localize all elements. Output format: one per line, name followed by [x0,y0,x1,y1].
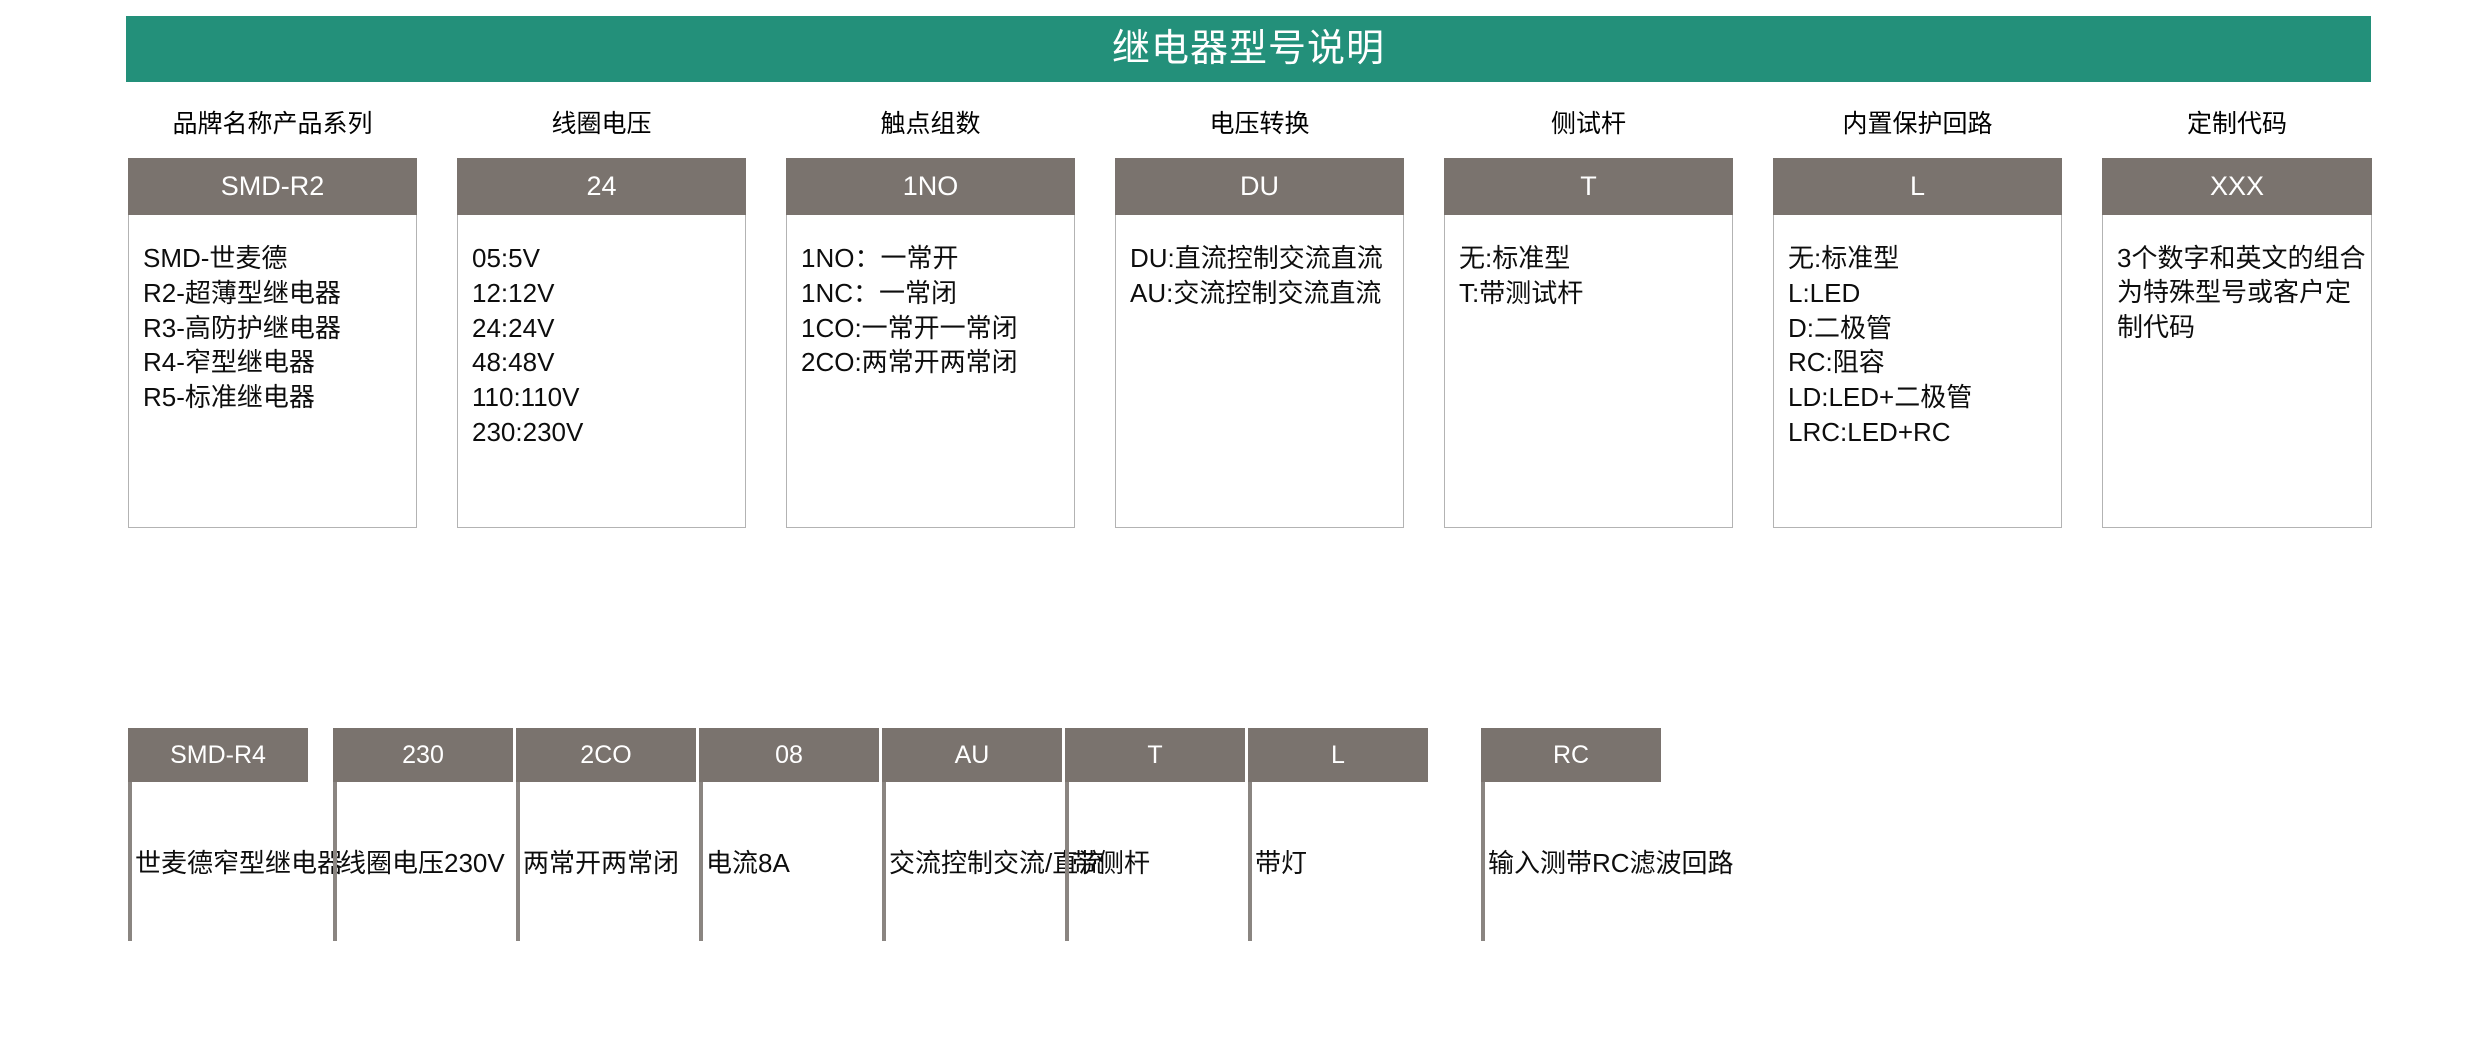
legend-column-box: DUDU:直流控制交流直流AU:交流控制交流直流 [1115,158,1404,528]
example-segment-code: AU [882,728,1062,782]
example-segment-stem: 输入测带RC滤波回路 [1481,782,1661,941]
legend-column-options: 无:标准型T:带测试杆 [1445,215,1732,311]
legend-option: 1NO：一常开 [801,241,1074,276]
model-code-legend: 品牌名称产品系列SMD-R2SMD-世麦德R2-超薄型继电器R3-高防护继电器R… [128,112,2372,542]
legend-column-options: 05:5V12:12V24:24V48:48V110:110V230:230V [458,215,745,450]
legend-option: D:二极管 [1788,311,2061,346]
page-title: 继电器型号说明 [126,30,2371,68]
example-segment-description: 线圈电压230V [340,848,505,879]
example-segment-code: 08 [699,728,879,782]
example-segment-stem: 世麦德窄型继电器 [128,782,308,941]
legend-column: 触点组数1NO1NO：一常开1NC：一常闭1CO:一常开一常闭2CO:两常开两常… [786,112,1075,528]
legend-column: 侧试杆T无:标准型T:带测试杆 [1444,112,1733,528]
page-title-banner: 继电器型号说明 [126,16,2371,82]
example-segment-code: L [1248,728,1428,782]
legend-option: 3个数字和英文的组合为特殊型号或客户定制代码 [2117,241,2371,344]
example-segment: RC输入测带RC滤波回路 [1481,728,1661,941]
example-segment-code: SMD-R4 [128,728,308,782]
legend-option: AU:交流控制交流直流 [1130,276,1403,311]
example-segment-description: 世麦德窄型继电器 [135,848,343,879]
legend-option: 12:12V [472,276,745,311]
example-segment-description: 两常开两常闭 [523,848,679,879]
legend-option: 2CO:两常开两常闭 [801,345,1074,380]
legend-column-caption: 内置保护回路 [1773,112,2062,144]
legend-option: R2-超薄型继电器 [143,276,416,311]
example-segment-description: 带侧杆 [1072,848,1150,879]
legend-column: 品牌名称产品系列SMD-R2SMD-世麦德R2-超薄型继电器R3-高防护继电器R… [128,112,417,528]
example-segment-code: 2CO [516,728,696,782]
example-segment: 230线圈电压230V [333,728,513,941]
legend-column: 线圈电压2405:5V12:12V24:24V48:48V110:110V230… [457,112,746,528]
legend-option: 1NC：一常闭 [801,276,1074,311]
example-segment-description: 带灯 [1255,848,1307,879]
legend-column-box: 1NO1NO：一常开1NC：一常闭1CO:一常开一常闭2CO:两常开两常闭 [786,158,1075,528]
legend-column-box: SMD-R2SMD-世麦德R2-超薄型继电器R3-高防护继电器R4-窄型继电器R… [128,158,417,528]
legend-column: 电压转换DUDU:直流控制交流直流AU:交流控制交流直流 [1115,112,1404,528]
legend-option: SMD-世麦德 [143,241,416,276]
legend-option: 无:标准型 [1459,241,1732,276]
legend-option: DU:直流控制交流直流 [1130,241,1403,276]
example-segment: AU交流控制交流/直流 [882,728,1062,941]
legend-option: LRC:LED+RC [1788,415,2061,450]
legend-column-box: XXX3个数字和英文的组合为特殊型号或客户定制代码 [2102,158,2372,528]
example-segment-description: 电流8A [706,848,790,879]
example-segment-stem: 电流8A [699,782,879,941]
example-segment: SMD-R4世麦德窄型继电器 [128,728,308,941]
example-segment-code: 230 [333,728,513,782]
legend-column-caption: 定制代码 [2102,112,2372,144]
legend-column-caption: 电压转换 [1115,112,1404,144]
example-segment-stem: 交流控制交流/直流 [882,782,1062,941]
legend-column-caption: 品牌名称产品系列 [128,112,417,144]
legend-column-code: 24 [457,158,746,215]
example-segment-stem: 线圈电压230V [333,782,513,941]
legend-column-box: T无:标准型T:带测试杆 [1444,158,1733,528]
example-segment-stem: 带侧杆 [1065,782,1245,941]
legend-option: 1CO:一常开一常闭 [801,311,1074,346]
legend-column-box: L无:标准型L:LEDD:二极管RC:阻容LD:LED+二极管LRC:LED+R… [1773,158,2062,528]
example-segment-stem: 带灯 [1248,782,1428,941]
legend-option: 48:48V [472,345,745,380]
example-segment: 08电流8A [699,728,879,941]
legend-column-caption: 侧试杆 [1444,112,1733,144]
example-segment-stem: 两常开两常闭 [516,782,696,941]
legend-option: 110:110V [472,380,745,415]
legend-option: RC:阻容 [1788,345,2061,380]
legend-option: L:LED [1788,276,2061,311]
legend-column-options: SMD-世麦德R2-超薄型继电器R3-高防护继电器R4-窄型继电器R5-标准继电… [129,215,416,415]
legend-column-caption: 线圈电压 [457,112,746,144]
example-segment-code: RC [1481,728,1661,782]
legend-column-box: 2405:5V12:12V24:24V48:48V110:110V230:230… [457,158,746,528]
legend-column-options: 无:标准型L:LEDD:二极管RC:阻容LD:LED+二极管LRC:LED+RC [1774,215,2061,450]
legend-option: 无:标准型 [1788,241,2061,276]
legend-option: R3-高防护继电器 [143,311,416,346]
legend-column-code: L [1773,158,2062,215]
legend-column-code: DU [1115,158,1404,215]
legend-column-code: SMD-R2 [128,158,417,215]
legend-column-code: T [1444,158,1733,215]
legend-column-code: XXX [2102,158,2372,215]
legend-column-options: 1NO：一常开1NC：一常闭1CO:一常开一常闭2CO:两常开两常闭 [787,215,1074,380]
example-segment: 2CO两常开两常闭 [516,728,696,941]
example-segment-description: 输入测带RC滤波回路 [1488,848,1734,879]
legend-column: 内置保护回路L无:标准型L:LEDD:二极管RC:阻容LD:LED+二极管LRC… [1773,112,2062,528]
legend-option: T:带测试杆 [1459,276,1732,311]
model-code-example: SMD-R4世麦德窄型继电器230线圈电压230V2CO两常开两常闭08电流8A… [128,728,2372,943]
legend-column-code: 1NO [786,158,1075,215]
legend-option: R4-窄型继电器 [143,345,416,380]
example-segment: T带侧杆 [1065,728,1245,941]
legend-column-caption: 触点组数 [786,112,1075,144]
legend-column-options: 3个数字和英文的组合为特殊型号或客户定制代码 [2103,215,2371,344]
legend-option: LD:LED+二极管 [1788,380,2061,415]
legend-column-options: DU:直流控制交流直流AU:交流控制交流直流 [1116,215,1403,311]
legend-option: 05:5V [472,241,745,276]
example-segment: L带灯 [1248,728,1428,941]
legend-option: R5-标准继电器 [143,380,416,415]
legend-option: 230:230V [472,415,745,450]
example-segment-code: T [1065,728,1245,782]
legend-column: 定制代码XXX3个数字和英文的组合为特殊型号或客户定制代码 [2102,112,2372,528]
legend-option: 24:24V [472,311,745,346]
